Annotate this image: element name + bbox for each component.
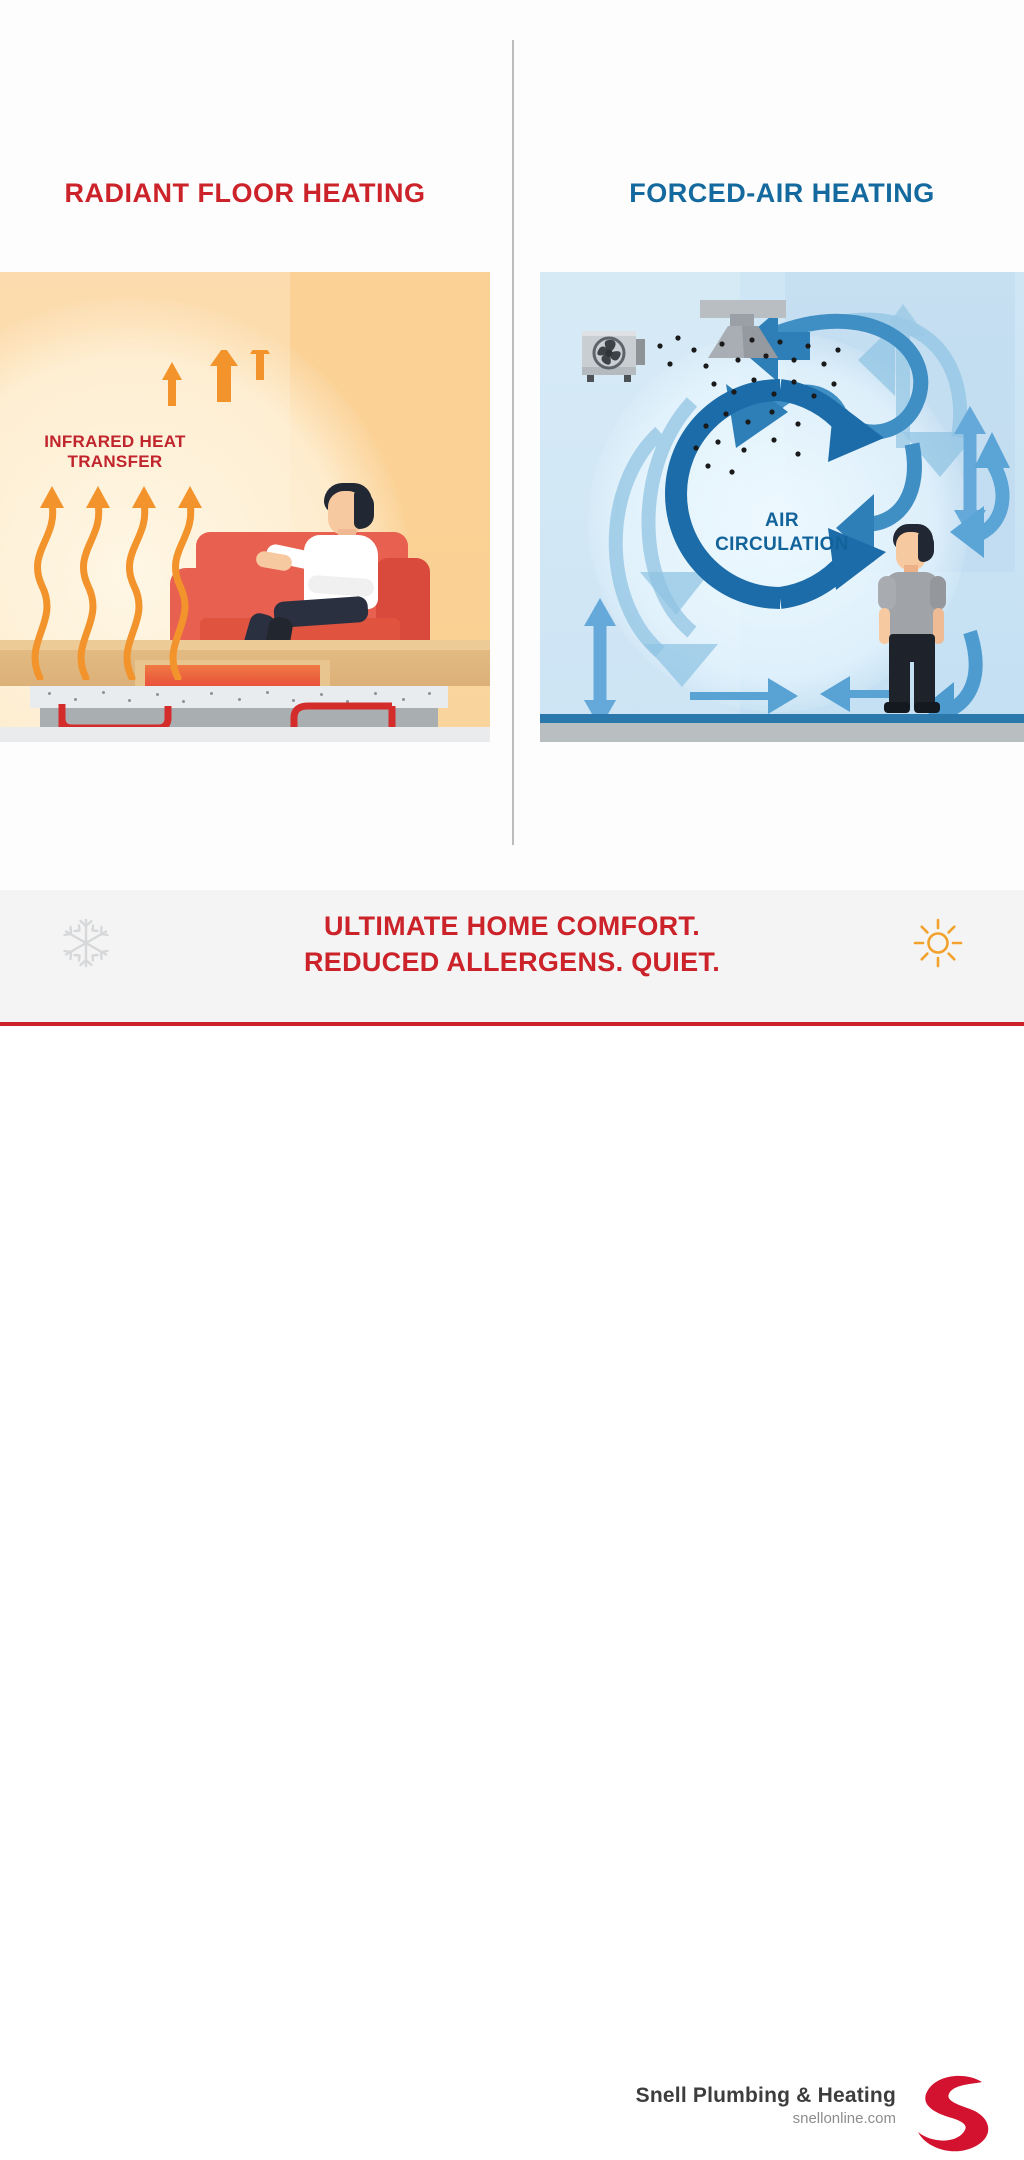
radiant-floor-illustration: INFRARED HEAT TRANSFER [0, 272, 490, 742]
blower-foot [624, 375, 631, 382]
panel-title-right: FORCED-AIR HEATING [540, 178, 1024, 209]
fan-hub [606, 350, 613, 357]
heat-arrowhead-icon [86, 486, 110, 508]
standing-person [876, 522, 948, 718]
forced-air-illustration: AIR CIRCULATION [540, 272, 1024, 742]
blower-foot [587, 375, 594, 382]
air-circulation-label: AIR CIRCULATION [687, 509, 877, 557]
logo-shape [918, 2076, 988, 2151]
wavy-heat-line [173, 504, 191, 678]
heat-arrow-icon [250, 350, 270, 380]
tagline-text: ULTIMATE HOME COMFORT. REDUCED ALLERGENS… [162, 908, 862, 980]
panel-title-left: RADIANT FLOOR HEATING [0, 178, 490, 209]
infographic-root: RADIANT FLOOR HEATING FORCED-AIR HEATING [0, 0, 1024, 1154]
wavy-heat-line [127, 504, 145, 678]
snell-s-logo [904, 2072, 1000, 2160]
wavy-heat-line [81, 504, 99, 678]
heat-arrowhead-icon [132, 486, 156, 508]
footer: Snell Plumbing & Heating snellonline.com [0, 1026, 1024, 1154]
label-line-2: TRANSFER [10, 452, 220, 472]
snowflake-icon [58, 915, 114, 971]
airflow-right-arrow-icon [690, 678, 798, 714]
airflow-arrowhead-icon [950, 506, 984, 558]
airflow-arrowhead-icon [974, 432, 1010, 468]
sun-disc [929, 934, 948, 953]
sun-rays [915, 920, 961, 966]
person-shoe [914, 702, 940, 713]
person-leg-gap [910, 662, 914, 708]
brand-block: Snell Plumbing & Heating snellonline.com [636, 2084, 896, 2127]
company-name: Snell Plumbing & Heating [636, 2084, 896, 2108]
wavy-heat-line [35, 504, 53, 678]
tagline-line-1: ULTIMATE HOME COMFORT. [162, 908, 862, 944]
blower-outlet [636, 339, 645, 365]
blower-top [582, 331, 636, 336]
heat-arrow-icon [210, 350, 238, 402]
tagline-line-2: REDUCED ALLERGENS. QUIET. [162, 944, 862, 980]
floor-base [540, 723, 1024, 742]
heat-arrowhead-icon [178, 486, 202, 508]
blower-fan-unit [582, 327, 654, 387]
heat-arrowhead-icon [40, 486, 64, 508]
sun-icon [910, 915, 966, 971]
base-strip [0, 727, 490, 742]
tagline-banner: ULTIMATE HOME COMFORT. REDUCED ALLERGENS… [0, 890, 1024, 1022]
dust-particles-group [648, 330, 908, 500]
label-line-1: INFRARED HEAT [10, 432, 220, 452]
vertical-divider [512, 40, 514, 845]
person-hair-back [354, 491, 374, 529]
person-sleeve [930, 576, 946, 610]
person-shoe [884, 702, 910, 713]
infrared-heat-transfer-label: INFRARED HEAT TRANSFER [10, 432, 220, 472]
person-hair-back [918, 532, 934, 562]
label-line-1: AIR [687, 509, 877, 533]
person-sleeve [878, 576, 896, 610]
duct-neck [730, 314, 754, 328]
heat-arrow-icon [162, 362, 182, 406]
label-line-2: CIRCULATION [687, 533, 877, 557]
website-url[interactable]: snellonline.com [636, 2110, 896, 2127]
floor-accent-line [540, 714, 1024, 723]
